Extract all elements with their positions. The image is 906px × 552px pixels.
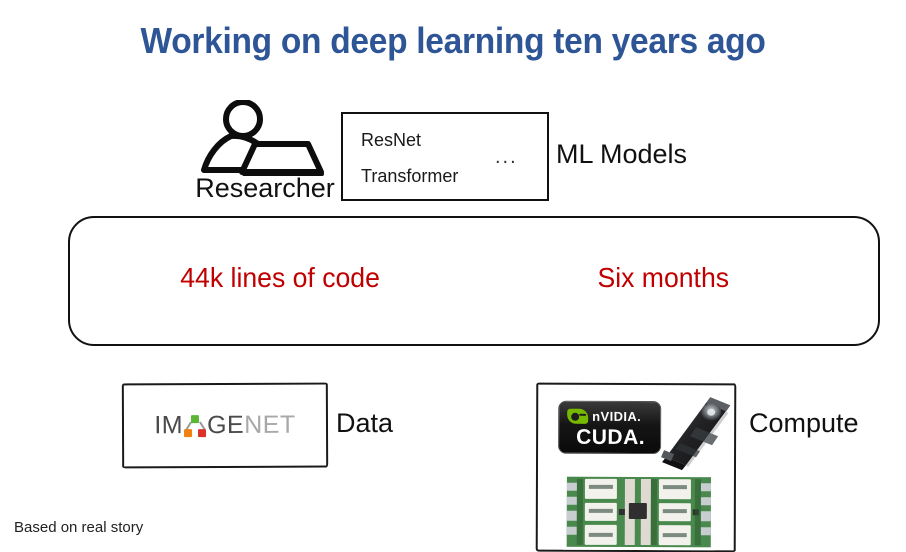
person-at-laptop-icon — [196, 100, 332, 178]
imagenet-logo-part2: GE — [207, 411, 244, 440]
ml-model-item: ResNet — [361, 130, 421, 151]
compute-label: Compute — [749, 408, 859, 439]
lines-of-code-label: 44k lines of code — [180, 262, 380, 294]
cuda-platform-label: CUDA. — [559, 427, 662, 448]
footnote: Based on real story — [14, 519, 143, 536]
imagenet-tree-icon — [184, 413, 206, 438]
ml-models-label: ML Models — [556, 139, 687, 170]
page-title: Working on deep learning ten years ago — [32, 20, 875, 62]
compute-box: nVIDIA. CUDA. — [536, 383, 737, 552]
ellipsis-label: ... — [495, 146, 518, 169]
nvidia-cuda-badge: nVIDIA. CUDA. — [558, 401, 661, 454]
ml-models-box: ResNet Transformer ... — [341, 112, 549, 201]
nvidia-brand-label: nVIDIA. — [592, 410, 641, 423]
nvidia-eye-icon — [567, 409, 588, 424]
data-label: Data — [336, 408, 393, 439]
slide-canvas: Working on deep learning ten years ago R… — [0, 0, 906, 552]
gpu-card-image — [660, 395, 732, 471]
data-box: IM GE NET — [122, 383, 328, 469]
imagenet-logo-part1: IM — [154, 411, 183, 440]
duration-label: Six months — [597, 262, 729, 294]
imagenet-logo-part3: NET — [244, 411, 296, 440]
server-board-image — [563, 473, 715, 552]
ml-model-item: Transformer — [361, 166, 458, 187]
imagenet-logo: IM GE NET — [124, 385, 326, 467]
